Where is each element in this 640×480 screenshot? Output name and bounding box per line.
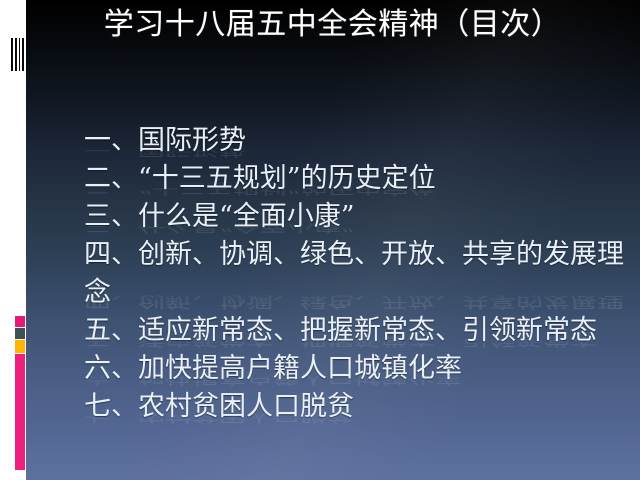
list-item-text: 一、国际形势 bbox=[84, 125, 246, 156]
vertical-bars-decoration bbox=[11, 38, 24, 71]
list-item: 五、适应新常态、把握新常态、引领新常态 五、适应新常态、把握新常态、引领新常态 bbox=[84, 312, 629, 350]
vertical-bar-icon bbox=[19, 38, 21, 71]
list-item-reflection: 四、创新、协调、绿色、开放、共享的发展理念 bbox=[84, 270, 629, 312]
slide-title: 学习十八届五中全会精神（目次） bbox=[60, 6, 605, 44]
list-item: 七、农村贫困人口脱贫 七、农村贫困人口脱贫 bbox=[84, 388, 629, 426]
pink-vertical-rule bbox=[15, 354, 25, 470]
list-item: 三、什么是“全面小康” 三、什么是“全面小康” bbox=[84, 198, 629, 236]
vertical-bar-icon bbox=[15, 38, 17, 71]
list-item-text: 七、农村贫困人口脱贫 bbox=[84, 391, 354, 422]
list-item: 四、创新、协调、绿色、开放、共享的发展理念 四、创新、协调、绿色、开放、共享的发… bbox=[84, 236, 629, 312]
amber-chip-icon bbox=[15, 340, 25, 353]
color-chips-decoration bbox=[15, 316, 25, 354]
vertical-bar-icon bbox=[22, 38, 24, 71]
list-item-text: 二、“十三五规划”的历史定位 bbox=[84, 163, 436, 194]
list-item: 一、国际形势 一、国际形势 bbox=[84, 122, 629, 160]
presentation-slide: 学习十八届五中全会精神（目次） 一、国际形势 一、国际形势 二、“十三五规划”的… bbox=[0, 0, 640, 480]
list-item-text: 五、适应新常态、把握新常态、引领新常态 bbox=[84, 315, 597, 346]
list-item-text: 三、什么是“全面小康” bbox=[84, 201, 355, 232]
list-item-text: 六、加快提高户籍人口城镇化率 bbox=[84, 353, 462, 384]
list-item: 二、“十三五规划”的历史定位 二、“十三五规划”的历史定位 bbox=[84, 160, 629, 198]
vertical-bar-icon bbox=[11, 38, 13, 71]
pink-chip-icon bbox=[15, 316, 25, 327]
list-item-text: 四、创新、协调、绿色、开放、共享的发展理念 bbox=[84, 239, 624, 308]
slate-chip-icon bbox=[15, 328, 25, 339]
slide-body-list: 一、国际形势 一、国际形势 二、“十三五规划”的历史定位 二、“十三五规划”的历… bbox=[84, 122, 629, 426]
list-item: 六、加快提高户籍人口城镇化率 六、加快提高户籍人口城镇化率 bbox=[84, 350, 629, 388]
